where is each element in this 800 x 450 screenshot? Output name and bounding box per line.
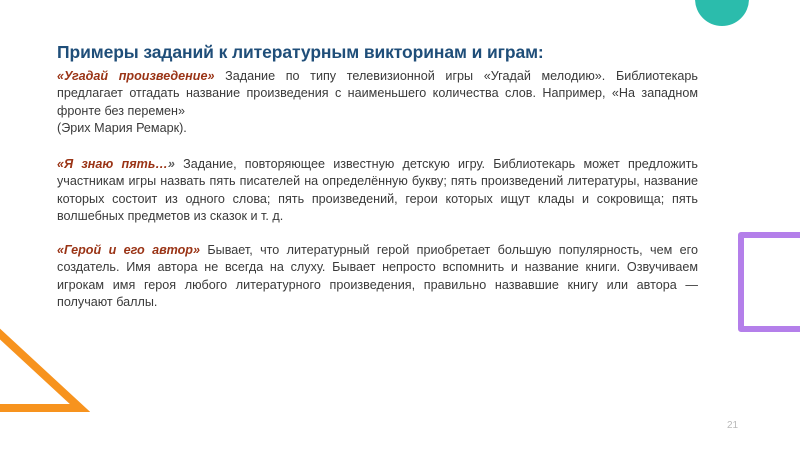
paragraph-i-know-five: «Я знаю пять…» Задание, повторяющее изве… [57,156,698,226]
paragraph-guess-the-work: «Угадай произведение» Задание по типу те… [57,68,698,138]
paragraph-1-tail: (Эрих Мария Ремарк). [57,120,698,137]
paragraph-2-lead-in-closing-quote: » [168,157,175,171]
purple-rectangle-decoration [738,232,800,332]
page-title: Примеры заданий к литературным викторина… [57,42,717,64]
paragraph-hero-and-author: «Герой и его автор» Бывает, что литерату… [57,242,698,312]
teal-semicircle-decoration [695,0,749,26]
orange-triangle-decoration [0,300,90,430]
page-number: 21 [727,420,738,431]
slide-canvas: Примеры заданий к литературным викторина… [0,0,800,450]
paragraph-1-lead-in: «Угадай произведение» [57,69,214,83]
paragraph-3-lead-in: «Герой и его автор» [57,243,200,257]
paragraph-2-lead-in: «Я знаю пять… [57,157,168,171]
